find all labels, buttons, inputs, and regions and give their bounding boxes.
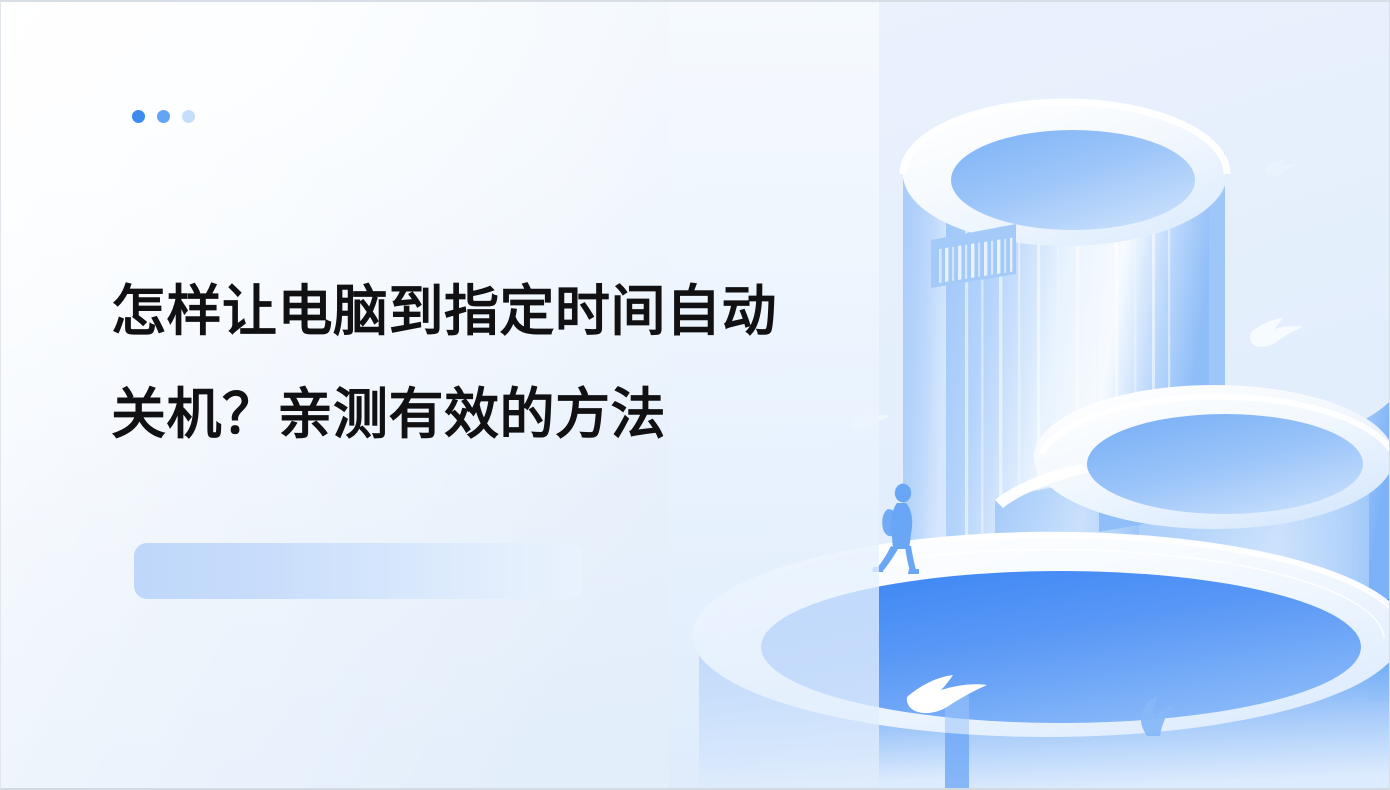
dots-decoration <box>132 110 195 123</box>
dot-3-icon <box>182 110 195 123</box>
dot-1-icon <box>132 110 145 123</box>
dot-2-icon <box>157 110 170 123</box>
middle-tower-opening <box>1087 414 1363 514</box>
page-title-line-1: 怎样让电脑到指定时间自动 <box>111 260 901 363</box>
upper-tower-opening <box>951 130 1195 230</box>
page-title: 怎样让电脑到指定时间自动 关机？亲测有效的方法 <box>111 260 901 466</box>
page-title-line-2: 关机？亲测有效的方法 <box>111 363 901 466</box>
slide-canvas: 怎样让电脑到指定时间自动 关机？亲测有效的方法 <box>0 0 1390 790</box>
subtitle-placeholder-bar <box>134 543 582 599</box>
base-platform-notch <box>945 695 969 790</box>
